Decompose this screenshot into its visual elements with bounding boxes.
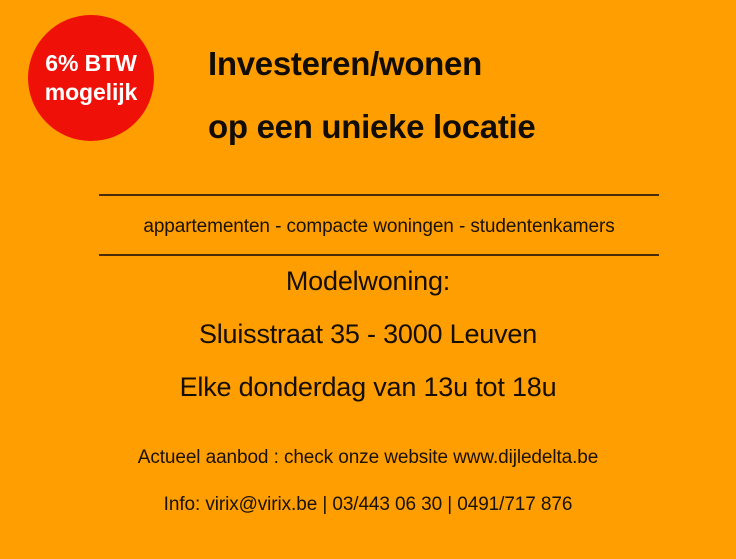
property-types-text: appartementen - compacte woningen - stud… [99, 196, 659, 254]
headline-line-2: op een unieke locatie [208, 110, 708, 143]
details-block: Modelwoning: Sluisstraat 35 - 3000 Leuve… [0, 268, 736, 401]
vat-badge: 6% BTW mogelijk [28, 15, 154, 141]
contact-block: Actueel aanbod : check onze website www.… [0, 448, 736, 514]
vat-badge-line-1: 6% BTW [45, 49, 136, 78]
advertisement-flyer: 6% BTW mogelijk Investeren/wonen op een … [0, 0, 736, 559]
property-types-block: appartementen - compacte woningen - stud… [99, 194, 659, 256]
divider-rule-bottom [99, 254, 659, 256]
vat-badge-line-2: mogelijk [45, 78, 138, 107]
info-line: Info: virix@virix.be | 03/443 06 30 | 04… [0, 495, 736, 514]
model-home-label: Modelwoning: [0, 268, 736, 295]
model-home-address: Sluisstraat 35 - 3000 Leuven [0, 321, 736, 348]
website-line: Actueel aanbod : check onze website www.… [0, 448, 736, 467]
model-home-opening-hours: Elke donderdag van 13u tot 18u [0, 374, 736, 401]
headline: Investeren/wonen op een unieke locatie [208, 47, 708, 143]
headline-line-1: Investeren/wonen [208, 47, 708, 80]
